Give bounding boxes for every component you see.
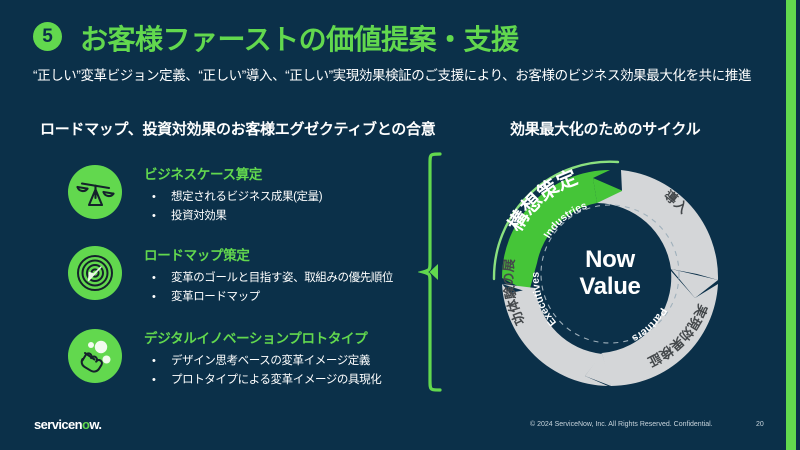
connector-bracket xyxy=(418,152,458,397)
copyright-notice: © 2024 ServiceNow, Inc. All Rights Reser… xyxy=(530,421,713,428)
balance-scale-icon xyxy=(68,165,122,219)
right-section-heading: 効果最大化のためのサイクル xyxy=(510,118,700,139)
value-cycle-diagram: 構想策定 導入 実現効果検証 成功体験の展開 Industries Partne… xyxy=(480,148,740,405)
page-title: お客様ファーストの価値提案・支援 xyxy=(80,18,519,58)
slide-canvas: 5 お客様ファーストの価値提案・支援 “正しい”変革ビジョン定義、“正しい”導入… xyxy=(0,0,800,450)
right-accent-bar xyxy=(786,0,796,450)
logo-text-post: w. xyxy=(89,417,101,432)
page-number: 20 xyxy=(756,421,764,428)
hand-click-icon xyxy=(68,329,122,383)
logo-text-pre: servicen xyxy=(34,417,82,432)
left-section-heading: ロードマップ、投資対効果のお客様エグゼクティブとの合意 xyxy=(40,118,435,139)
slide-number-badge: 5 xyxy=(33,22,62,51)
servicenow-logo: servicenow. xyxy=(34,417,101,432)
page-subtitle: “正しい”変革ビジョン定義、“正しい”導入、“正しい”実現効果検証のご支援により… xyxy=(33,64,751,84)
target-arrow-icon xyxy=(68,246,122,300)
